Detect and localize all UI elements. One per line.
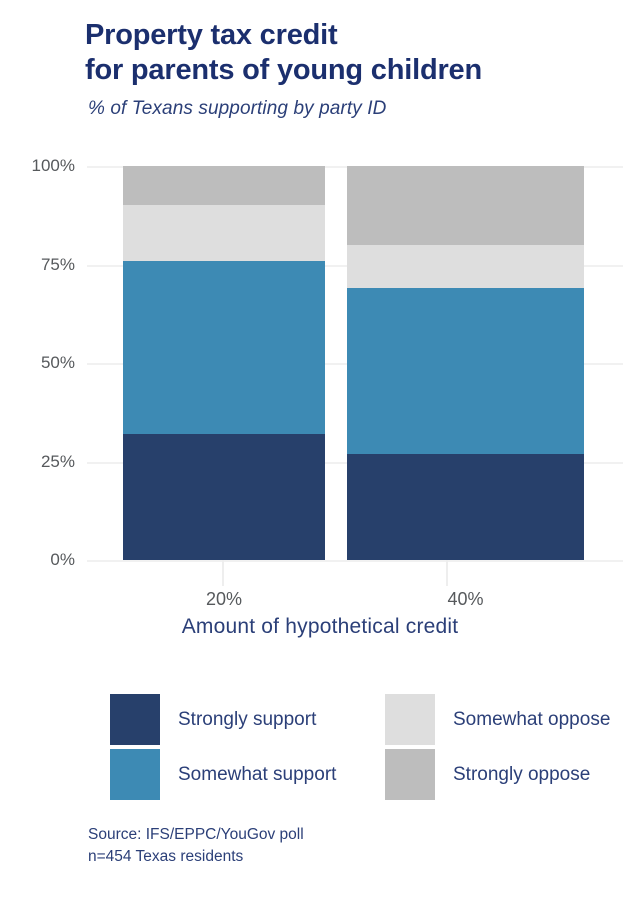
- gridline: [87, 560, 623, 562]
- source-note: Source: IFS/EPPC/YouGov poll n=454 Texas…: [88, 824, 304, 868]
- y-axis-tick-label: 0%: [0, 550, 75, 570]
- y-axis-tick-label: 25%: [0, 452, 75, 472]
- legend-swatch: [385, 694, 435, 745]
- bar-segment[interactable]: [347, 454, 584, 560]
- legend-swatch: [110, 694, 160, 745]
- x-axis-tick-mark: [222, 560, 224, 586]
- chart-legend: Strongly supportSomewhat opposeSomewhat …: [110, 694, 640, 800]
- legend-label: Strongly oppose: [453, 764, 590, 786]
- y-axis-tick-labels: 0%25%50%75%100%: [0, 166, 75, 560]
- legend-item[interactable]: Strongly oppose: [385, 749, 640, 800]
- legend-label: Somewhat support: [178, 764, 336, 786]
- bar-segment[interactable]: [347, 245, 584, 288]
- x-axis-tick-label: 40%: [447, 589, 483, 610]
- bar-stack[interactable]: [347, 166, 584, 560]
- source-line-2: n=454 Texas residents: [88, 846, 304, 868]
- y-axis-tick-label: 75%: [0, 255, 75, 275]
- legend-label: Somewhat oppose: [453, 709, 610, 731]
- y-axis-tick-label: 50%: [0, 353, 75, 373]
- plot-area: [87, 166, 584, 560]
- bar-segment[interactable]: [123, 434, 325, 560]
- bar-segment[interactable]: [347, 288, 584, 453]
- legend-swatch: [110, 749, 160, 800]
- legend-label: Strongly support: [178, 709, 316, 731]
- x-axis-title: Amount of hypothetical credit: [0, 615, 640, 639]
- legend-item[interactable]: Somewhat support: [110, 749, 385, 800]
- chart-figure: Property tax credit for parents of young…: [0, 0, 640, 901]
- x-axis-tick-mark: [446, 560, 448, 586]
- bar-segment[interactable]: [123, 261, 325, 434]
- source-line-1: Source: IFS/EPPC/YouGov poll: [88, 824, 304, 846]
- bar-segment[interactable]: [123, 205, 325, 260]
- bar-segment[interactable]: [347, 166, 584, 245]
- bar-segment[interactable]: [123, 166, 325, 205]
- legend-item[interactable]: Somewhat oppose: [385, 694, 640, 745]
- bar-stack[interactable]: [123, 166, 325, 560]
- x-axis-tick-label: 20%: [206, 589, 242, 610]
- legend-item[interactable]: Strongly support: [110, 694, 385, 745]
- plot-region: 0%25%50%75%100% 20%40% Amount of hypothe…: [0, 0, 640, 640]
- y-axis-tick-label: 100%: [0, 156, 75, 176]
- legend-swatch: [385, 749, 435, 800]
